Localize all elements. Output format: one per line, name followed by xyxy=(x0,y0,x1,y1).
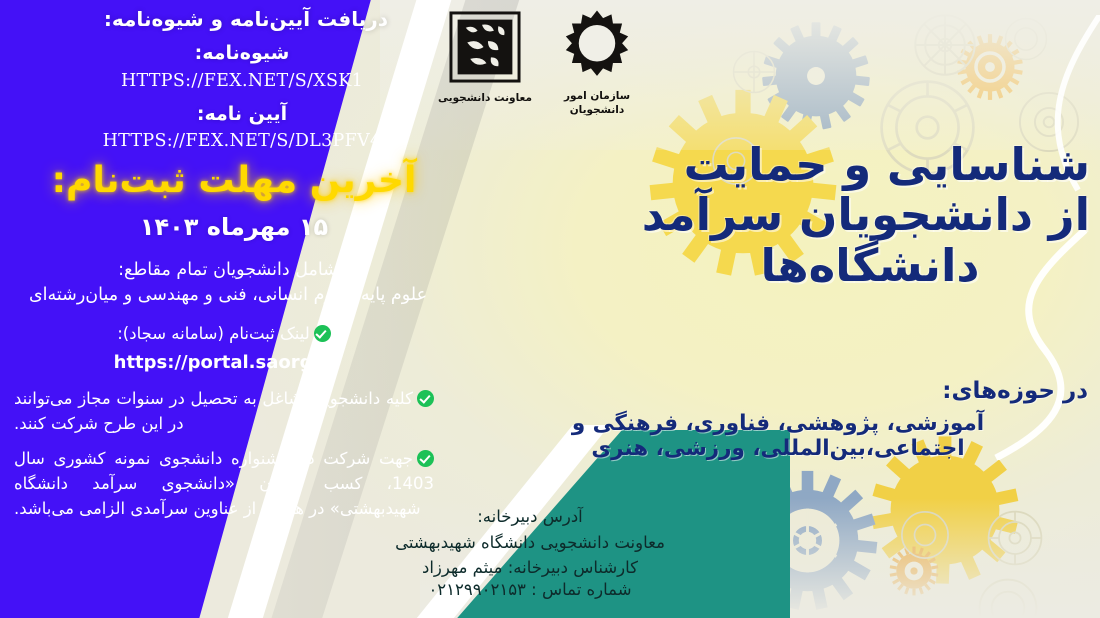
check-icon xyxy=(417,390,434,407)
secretariat-heading: آدرس دبیرخانه: xyxy=(330,505,730,530)
bylaw-doc-url[interactable]: HTTPS://FEX.NET/S/DL3PFV4 xyxy=(58,130,426,153)
organization-caption-line-1: سازمان امور xyxy=(543,89,651,103)
secretariat-office: معاونت دانشجویی دانشگاه شهیدبهشتی xyxy=(330,531,730,556)
document-links-block: شیوه‌نامه: HTTPS://FEX.NET/S/XSK1 آیین ن… xyxy=(58,42,426,163)
deadline-title: آخرین مهلت ثبت‌نام: xyxy=(34,160,434,201)
headline-line-1: شناسایی و حمایت xyxy=(560,140,1090,190)
fields-label: در حوزه‌های: xyxy=(468,378,1088,404)
secretariat-details: آدرس دبیرخانه: معاونت دانشجویی دانشگاه ش… xyxy=(330,505,730,599)
fields-list: آموزشی، پژوهشی، فناوری، فرهنگی و اجتماعی… xyxy=(468,411,1088,461)
organization-emblem-icon xyxy=(559,6,635,82)
registration-portal-url[interactable]: https://portal.saorg.ir xyxy=(14,349,434,376)
shahid-beheshti-university-logo: معاونت دانشجویی xyxy=(435,10,535,105)
check-icon xyxy=(314,325,331,342)
deadline-date: ۱۵ مهرماه ۱۴۰۳ xyxy=(34,213,434,241)
list-item: لینک ثبت‌نام (سامانه سجاد): https://port… xyxy=(14,322,438,376)
inclusion-note: شامل دانشجویان تمام مقاطع: علوم پایه، عل… xyxy=(22,258,434,309)
logo-row: معاونت دانشجویی سازمان امور دانشجویان xyxy=(425,4,655,116)
bylaw-doc-label: آیین نامه: xyxy=(58,103,426,127)
headline-line-3: دانشگاه‌ها xyxy=(560,241,1100,291)
bullet-list: لینک ثبت‌نام (سامانه سجاد): https://port… xyxy=(14,322,438,533)
fields-section: در حوزه‌های: آموزشی، پژوهشی، فناوری، فره… xyxy=(468,378,1088,461)
inclusion-line-1: شامل دانشجویان تمام مقاطع: xyxy=(22,258,434,283)
university-emblem-icon xyxy=(448,10,522,84)
method-doc-label: شیوه‌نامه: xyxy=(58,42,426,66)
download-regulations-header: دریافت آیین‌نامه و شیوه‌نامه: xyxy=(66,6,426,32)
organization-caption-line-2: دانشجویان xyxy=(543,103,651,117)
registration-link-label: لینک ثبت‌نام (سامانه سجاد): xyxy=(117,324,310,343)
secretariat-phone: شماره تماس : ۰۲۱۲۹۹۰۲۱۵۳ xyxy=(330,580,730,599)
university-logo-caption: معاونت دانشجویی xyxy=(435,91,535,105)
headline-line-2: از دانشجویان سرآمد xyxy=(560,190,1090,240)
student-affairs-organization-logo: سازمان امور دانشجویان xyxy=(543,6,651,117)
page-title: شناسایی و حمایت از دانشجویان سرآمد دانشگ… xyxy=(560,140,1090,291)
method-doc-url[interactable]: HTTPS://FEX.NET/S/XSK1 xyxy=(58,70,426,93)
inclusion-line-2: علوم پایه، علوم انسانی، فنی و مهندسی و م… xyxy=(22,283,434,308)
secretariat-contact-person: کارشناس دبیرخانه: میثم مهرزاد xyxy=(330,556,730,581)
check-icon xyxy=(417,450,434,467)
poster-canvas: دریافت آیین‌نامه و شیوه‌نامه: شیوه‌نامه:… xyxy=(0,0,1100,618)
list-item: کلیه دانشجویان شاغل به تحصیل در سنوات مج… xyxy=(14,387,438,437)
organization-logo-caption: سازمان امور دانشجویان xyxy=(543,89,651,117)
eligibility-note: کلیه دانشجویان شاغل به تحصیل در سنوات مج… xyxy=(14,389,413,433)
